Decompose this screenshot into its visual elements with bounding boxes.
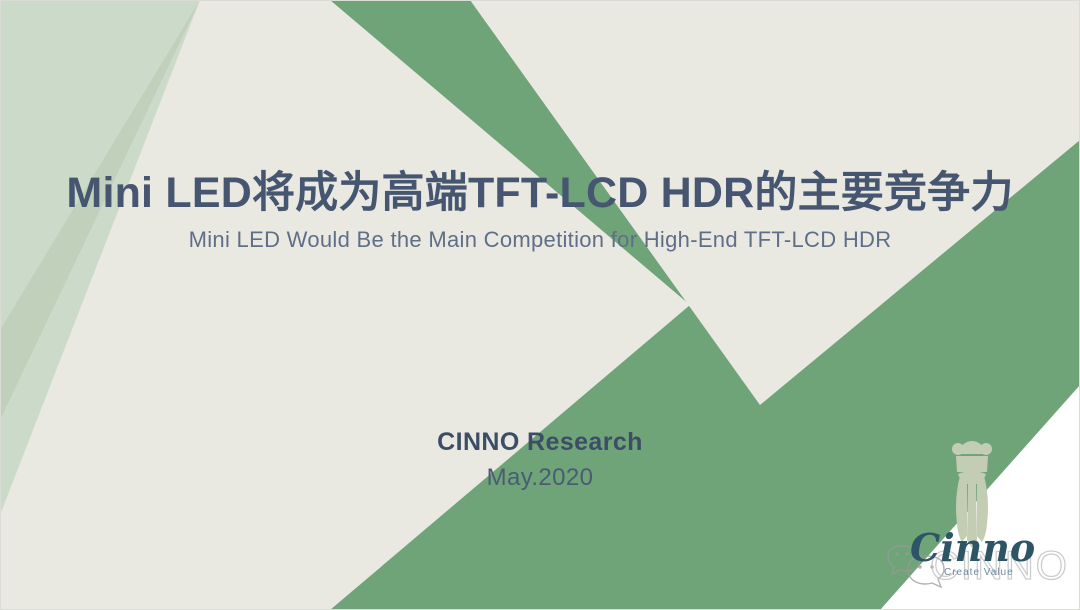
logo-cluster-graphic: CINNO Cinno Create Value <box>882 434 1072 604</box>
title-block: Mini LED将成为高端TFT-LCD HDR的主要竞争力 Mini LED … <box>0 168 1080 253</box>
cinno-tagline: Create Value <box>944 567 1014 578</box>
logo-cluster: CINNO Cinno Create Value <box>882 434 1072 604</box>
cinno-wordmark: Cinno <box>910 525 1035 570</box>
title-slide: Mini LED将成为高端TFT-LCD HDR的主要竞争力 Mini LED … <box>0 0 1080 610</box>
page-title: Mini LED将成为高端TFT-LCD HDR的主要竞争力 <box>0 168 1080 219</box>
page-subtitle: Mini LED Would Be the Main Competition f… <box>0 227 1080 253</box>
